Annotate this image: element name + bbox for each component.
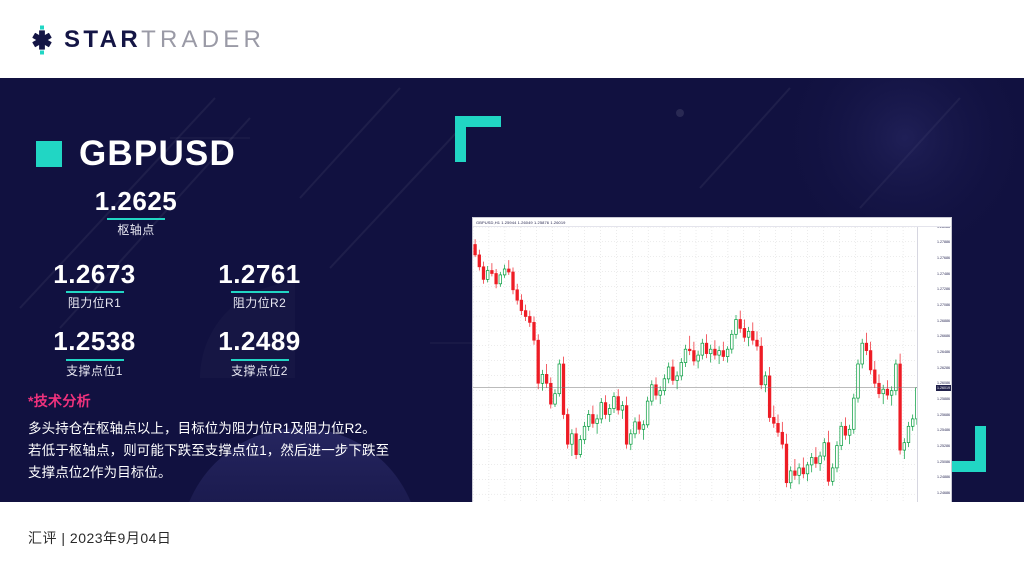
chart-plot-area[interactable] [473, 227, 917, 502]
current-price-label: 1.26019 [936, 385, 951, 391]
price-tick: 1.25686 [937, 413, 950, 418]
price-tick: 1.25886 [937, 397, 950, 402]
level-pivot-label: 枢轴点 [36, 224, 236, 237]
brand-wordmark: STARTRADER [64, 28, 265, 52]
price-tick: 1.26286 [937, 366, 950, 371]
price-tick: 1.26686 [937, 334, 950, 339]
price-axis[interactable]: 1.280861.278861.276861.274861.272861.270… [917, 227, 951, 502]
price-tick: 1.27886 [937, 240, 950, 245]
level-s1-value: 1.2538 [53, 328, 136, 355]
brand-name-bold: STAR [64, 26, 141, 53]
level-pivot-value: 1.2625 [95, 188, 178, 215]
instrument-bullet-icon [36, 141, 62, 167]
level-r2: 1.2761 阻力位R2 [177, 261, 342, 328]
price-tick: 1.25286 [937, 444, 950, 449]
price-tick: 1.27686 [937, 256, 950, 261]
analysis-heading: *技术分析 [28, 391, 403, 411]
analysis-line-2: 若低于枢轴点，则可能下跌至支撑点位1，然后进一步下跌至 [28, 440, 403, 462]
header-bar: STARTRADER [0, 0, 1024, 78]
level-r2-underline [231, 291, 289, 293]
star-asterisk-icon [27, 25, 57, 55]
technical-analysis-block: *技术分析 多头持仓在枢轴点以上，目标位为阻力位R1及阻力位R2。 若低于枢轴点… [28, 391, 403, 484]
price-chart[interactable]: GBPUSD,H1 1.25944 1.26049 1.25876 1.2601… [472, 217, 952, 502]
level-r2-value: 1.2761 [218, 261, 301, 288]
candlestick-series [473, 227, 917, 502]
level-s2-label: 支撑点位2 [177, 365, 342, 378]
level-r1-label: 阻力位R1 [12, 297, 177, 310]
level-r1-value: 1.2673 [53, 261, 136, 288]
price-tick: 1.25486 [937, 428, 950, 433]
page-title: GBPUSD [79, 136, 236, 171]
price-tick: 1.28086 [937, 227, 950, 230]
level-pivot-underline [107, 218, 165, 220]
level-r1-underline [66, 291, 124, 293]
price-tick: 1.26486 [937, 350, 950, 355]
chart-header-ohlc: GBPUSD,H1 1.25944 1.26049 1.25876 1.2601… [473, 218, 951, 227]
analysis-line-1: 多头持仓在枢轴点以上，目标位为阻力位R1及阻力位R2。 [28, 418, 403, 440]
price-tick: 1.24886 [937, 475, 950, 480]
level-s1: 1.2538 支撑点位1 [12, 328, 177, 395]
level-s1-underline [66, 359, 124, 361]
brand-name-light: TRADER [141, 26, 265, 53]
brand-logo: STARTRADER [27, 25, 265, 55]
levels-row-resistance: 1.2673 阻力位R1 1.2761 阻力位R2 [12, 261, 342, 328]
level-s2: 1.2489 支撑点位2 [177, 328, 342, 395]
footer-bar: 汇评 | 2023年9月04日 [0, 502, 1024, 576]
price-tick: 1.27486 [937, 272, 950, 277]
analysis-line-3: 支撑点位2作为目标位。 [28, 462, 403, 484]
level-s2-value: 1.2489 [218, 328, 301, 355]
level-s1-label: 支撑点位1 [12, 365, 177, 378]
analysis-text: 多头持仓在枢轴点以上，目标位为阻力位R1及阻力位R2。 若低于枢轴点，则可能下跌… [28, 418, 403, 484]
level-r2-label: 阻力位R2 [177, 297, 342, 310]
price-tick: 1.27286 [937, 287, 950, 292]
instrument-title-row: GBPUSD [36, 136, 236, 171]
price-tick: 1.25086 [937, 460, 950, 465]
footer-caption: 汇评 | 2023年9月04日 [28, 528, 171, 548]
level-r1: 1.2673 阻力位R1 [12, 261, 177, 328]
price-tick: 1.26886 [937, 319, 950, 324]
levels-row-support: 1.2538 支撑点位1 1.2489 支撑点位2 [12, 328, 342, 395]
level-s2-underline [231, 359, 289, 361]
corner-bracket-top-left [455, 116, 501, 162]
level-pivot: 1.2625 枢轴点 [36, 188, 236, 237]
price-tick: 1.27086 [937, 303, 950, 308]
price-tick: 1.24686 [937, 491, 950, 496]
levels-grid: 1.2673 阻力位R1 1.2761 阻力位R2 1.2538 支撑点位1 [12, 261, 342, 396]
slide-root: STARTRADER [0, 0, 1024, 576]
content-panel: GBPUSD 1.2625 枢轴点 1.2673 阻力位R1 1.2761 阻力… [0, 78, 1024, 502]
